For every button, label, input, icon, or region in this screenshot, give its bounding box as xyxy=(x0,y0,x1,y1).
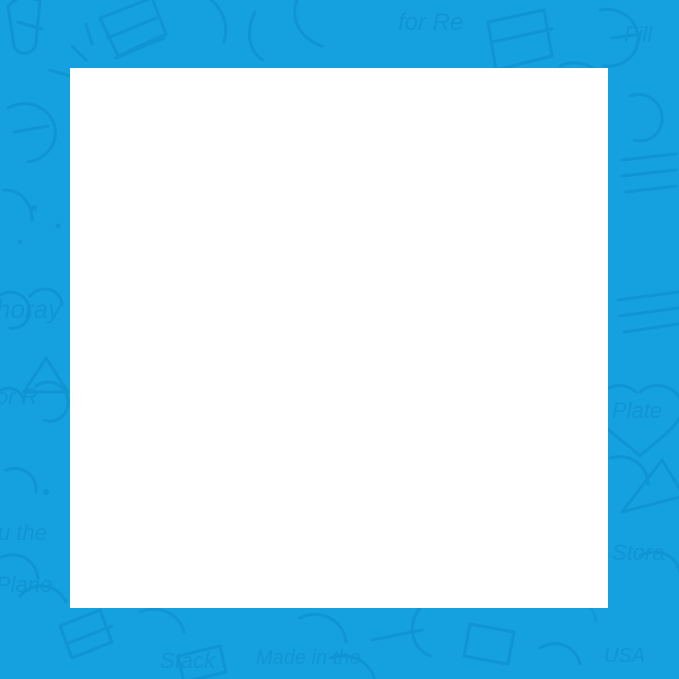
doodle-word-storage: horay xyxy=(0,294,63,324)
doodle-word-made-in-usa: Made in the xyxy=(256,647,361,669)
doodle-word-fill: Fill xyxy=(624,22,653,47)
doodle-word-usa: USA xyxy=(604,645,645,667)
doodle-word-stora: Stora xyxy=(612,540,665,565)
doodle-word-plate: Plate xyxy=(612,398,662,423)
doodle-word-stack: Stack xyxy=(160,648,216,673)
doodle-word-uthe: u the xyxy=(0,520,47,545)
doodle-word-for-refill: for Re xyxy=(398,9,463,36)
white-content-panel xyxy=(70,68,608,608)
doodle-word-plane: Plane xyxy=(0,572,52,597)
doodle-word-for-re: or R xyxy=(0,384,38,409)
